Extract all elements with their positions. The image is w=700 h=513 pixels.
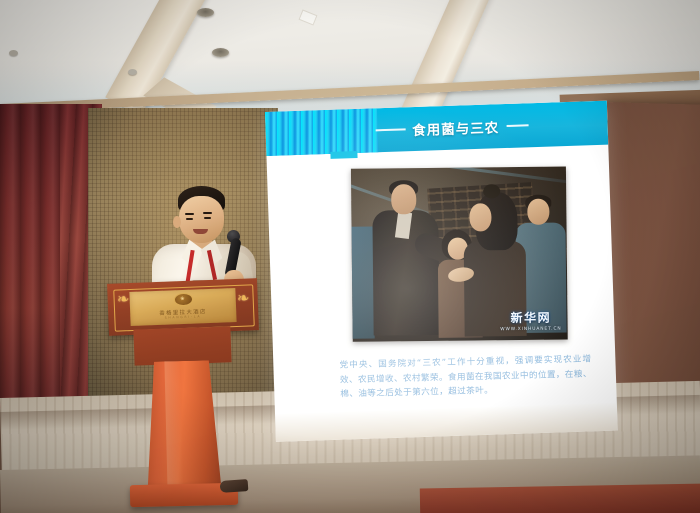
- downlight-icon: [212, 48, 229, 57]
- official-head: [391, 184, 416, 214]
- podium-ornament-icon: ❧: [237, 291, 250, 306]
- photo-woman-bun: [483, 184, 500, 198]
- speaker-brow-right: [203, 212, 212, 214]
- stage-edge-strip: [420, 483, 700, 513]
- slide-body-text: 党中央、国务院对“三农”工作十分重视，强调要实现农业增效、农民增收、农村繁荣。食…: [339, 352, 592, 402]
- watermark-url: WWW.XINHUANET.CN: [500, 327, 561, 333]
- photo-bystander-right-head: [527, 199, 549, 225]
- slide-title: 食用菌与三农: [412, 116, 500, 139]
- photo-woman-face: [469, 203, 491, 231]
- downlight-icon: [197, 8, 214, 17]
- watermark-text: 新华网: [500, 309, 562, 327]
- speaker-shoe: [220, 479, 249, 493]
- speaker-eye-right: [204, 217, 211, 219]
- title-dash-right: [506, 124, 528, 126]
- photo-watermark: 新华网 WWW.XINHUANET.CN: [500, 309, 562, 333]
- smoke-detector-icon: [9, 50, 18, 56]
- title-dash-left: [375, 129, 405, 132]
- speaker-brow-left: [185, 213, 194, 215]
- speaker-ear: [173, 216, 181, 228]
- photo-beam: [447, 167, 567, 185]
- conference-room-photo: 食用菌与三农: [0, 0, 700, 513]
- podium-column-highlight: [164, 361, 183, 491]
- slide-photograph: 新华网 WWW.XINHUANET.CN: [351, 167, 568, 342]
- podium-emblem-glyph: ❀: [179, 295, 186, 301]
- speaker-eye-left: [186, 218, 193, 220]
- podium: ❧ ❧ ❀ 香格里拉大酒店 SHANGRI-LA: [108, 281, 258, 513]
- photo-bystander-left: [351, 227, 375, 339]
- smoke-detector-icon: [128, 69, 137, 75]
- projection-screen: 食用菌与三农: [265, 101, 618, 442]
- podium-ornament-icon: ❧: [117, 292, 130, 307]
- podium-neck: [133, 326, 231, 365]
